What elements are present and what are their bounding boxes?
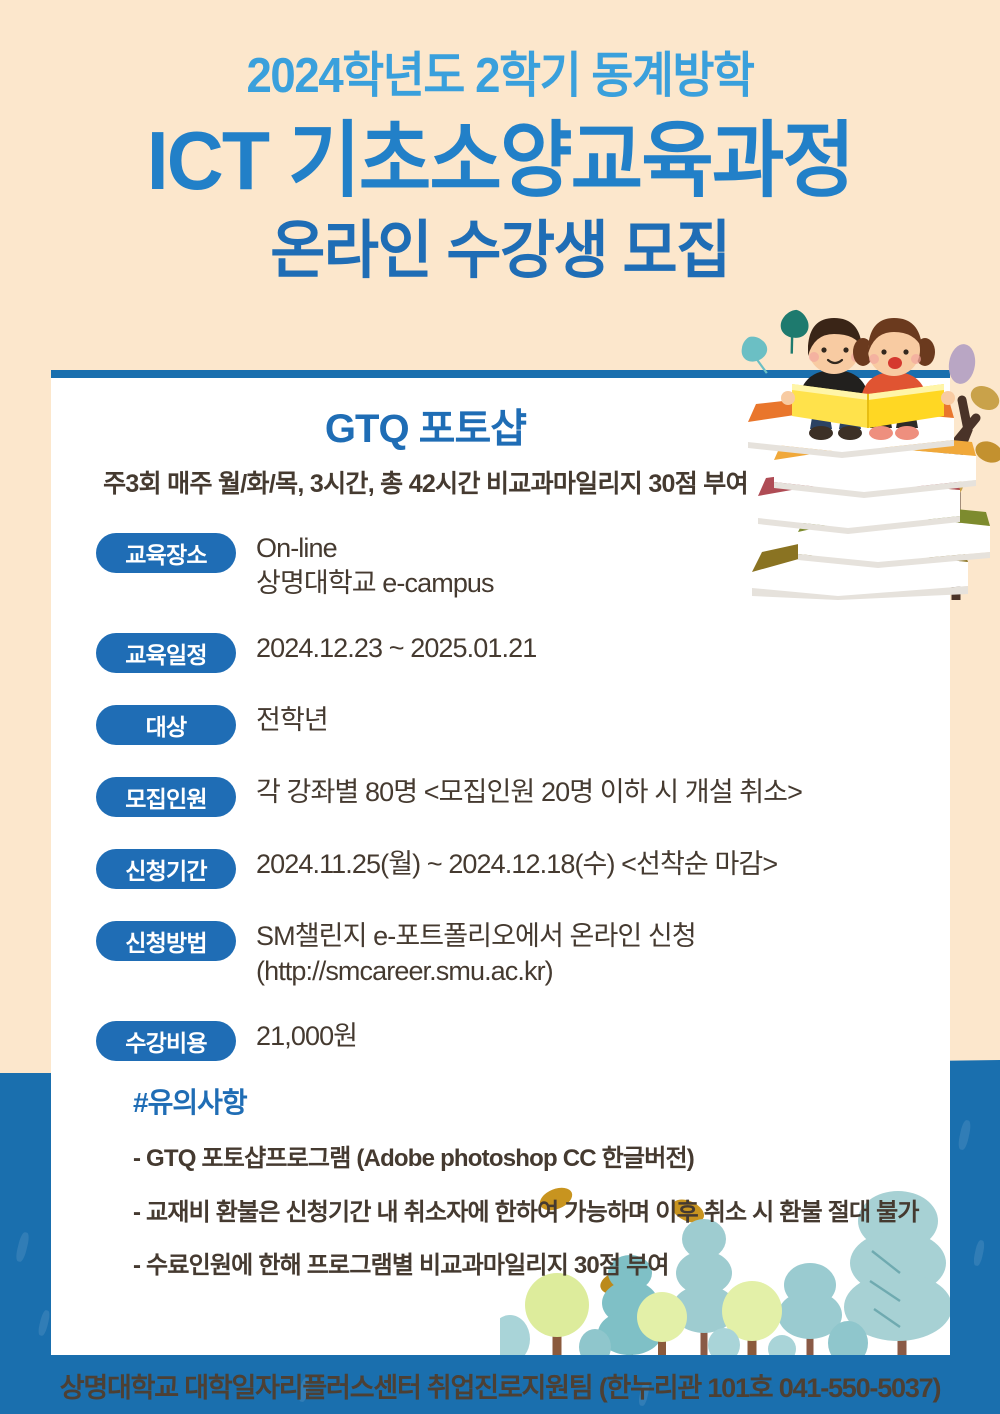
info-row-capacity: 모집인원 각 강좌별 80명 <모집인원 20명 이하 시 개설 취소> bbox=[96, 775, 950, 817]
info-value-fee: 21,000원 bbox=[256, 1019, 357, 1054]
info-label-capacity: 모집인원 bbox=[96, 777, 236, 817]
note-item: - 교재비 환불은 신청기간 내 취소자에 한하여 가능하며 이후 취소 시 환… bbox=[133, 1197, 950, 1228]
poster-root: 2024학년도 2학기 동계방학 ICT 기초소양교육과정 온라인 수강생 모집 bbox=[0, 0, 1000, 1414]
info-row-fee: 수강비용 21,000원 bbox=[96, 1019, 950, 1061]
header-line-title: ICT 기초소양교육과정 bbox=[25, 119, 975, 202]
info-label-apply-method: 신청방법 bbox=[96, 921, 236, 961]
info-row-apply-period: 신청기간 2024.11.25(월) ~ 2024.12.18(수) <선착순 … bbox=[96, 847, 950, 889]
info-value-target: 전학년 bbox=[256, 703, 328, 738]
header-line-year: 2024학년도 2학기 동계방학 bbox=[35, 52, 965, 101]
note-item: - GTQ 포토샵프로그램 (Adobe photoshop CC 한글버전) bbox=[133, 1143, 950, 1174]
children-on-books-illustration bbox=[718, 300, 1000, 600]
poster-header: 2024학년도 2학기 동계방학 ICT 기초소양교육과정 온라인 수강생 모집 bbox=[0, 0, 1000, 283]
info-label-schedule: 교육일정 bbox=[96, 633, 236, 673]
notes-heading: #유의사항 bbox=[133, 1081, 950, 1121]
info-row-list: 교육장소 On-line 상명대학교 e-campus 교육일정 2024.12… bbox=[51, 531, 950, 1061]
info-value-apply-period: 2024.11.25(월) ~ 2024.12.18(수) <선착순 마감> bbox=[256, 847, 777, 882]
info-row-apply-method: 신청방법 SM챌린지 e-포트폴리오에서 온라인 신청 (http://smca… bbox=[96, 919, 950, 989]
info-value-apply-method: SM챌린지 e-포트폴리오에서 온라인 신청 (http://smcareer.… bbox=[256, 919, 696, 989]
info-value-schedule: 2024.12.23 ~ 2025.01.21 bbox=[256, 631, 536, 666]
note-item: - 수료인원에 한해 프로그램별 비교과마일리지 30점 부여 bbox=[133, 1250, 950, 1281]
info-label-target: 대상 bbox=[96, 705, 236, 745]
info-label-fee: 수강비용 bbox=[96, 1021, 236, 1061]
notes-section: #유의사항 - GTQ 포토샵프로그램 (Adobe photoshop CC … bbox=[51, 1081, 950, 1281]
info-label-location: 교육장소 bbox=[96, 533, 236, 573]
info-label-apply-period: 신청기간 bbox=[96, 849, 236, 889]
info-row-target: 대상 전학년 bbox=[96, 703, 950, 745]
header-line-subtitle: 온라인 수강생 모집 bbox=[25, 220, 975, 283]
info-value-location: On-line 상명대학교 e-campus bbox=[256, 531, 494, 601]
info-value-capacity: 각 강좌별 80명 <모집인원 20명 이하 시 개설 취소> bbox=[256, 775, 802, 810]
info-row-schedule: 교육일정 2024.12.23 ~ 2025.01.21 bbox=[96, 631, 950, 673]
footer-contact: 상명대학교 대학일자리플러스센터 취업진로지원팀 (한누리관 101호 041-… bbox=[0, 1366, 1000, 1405]
